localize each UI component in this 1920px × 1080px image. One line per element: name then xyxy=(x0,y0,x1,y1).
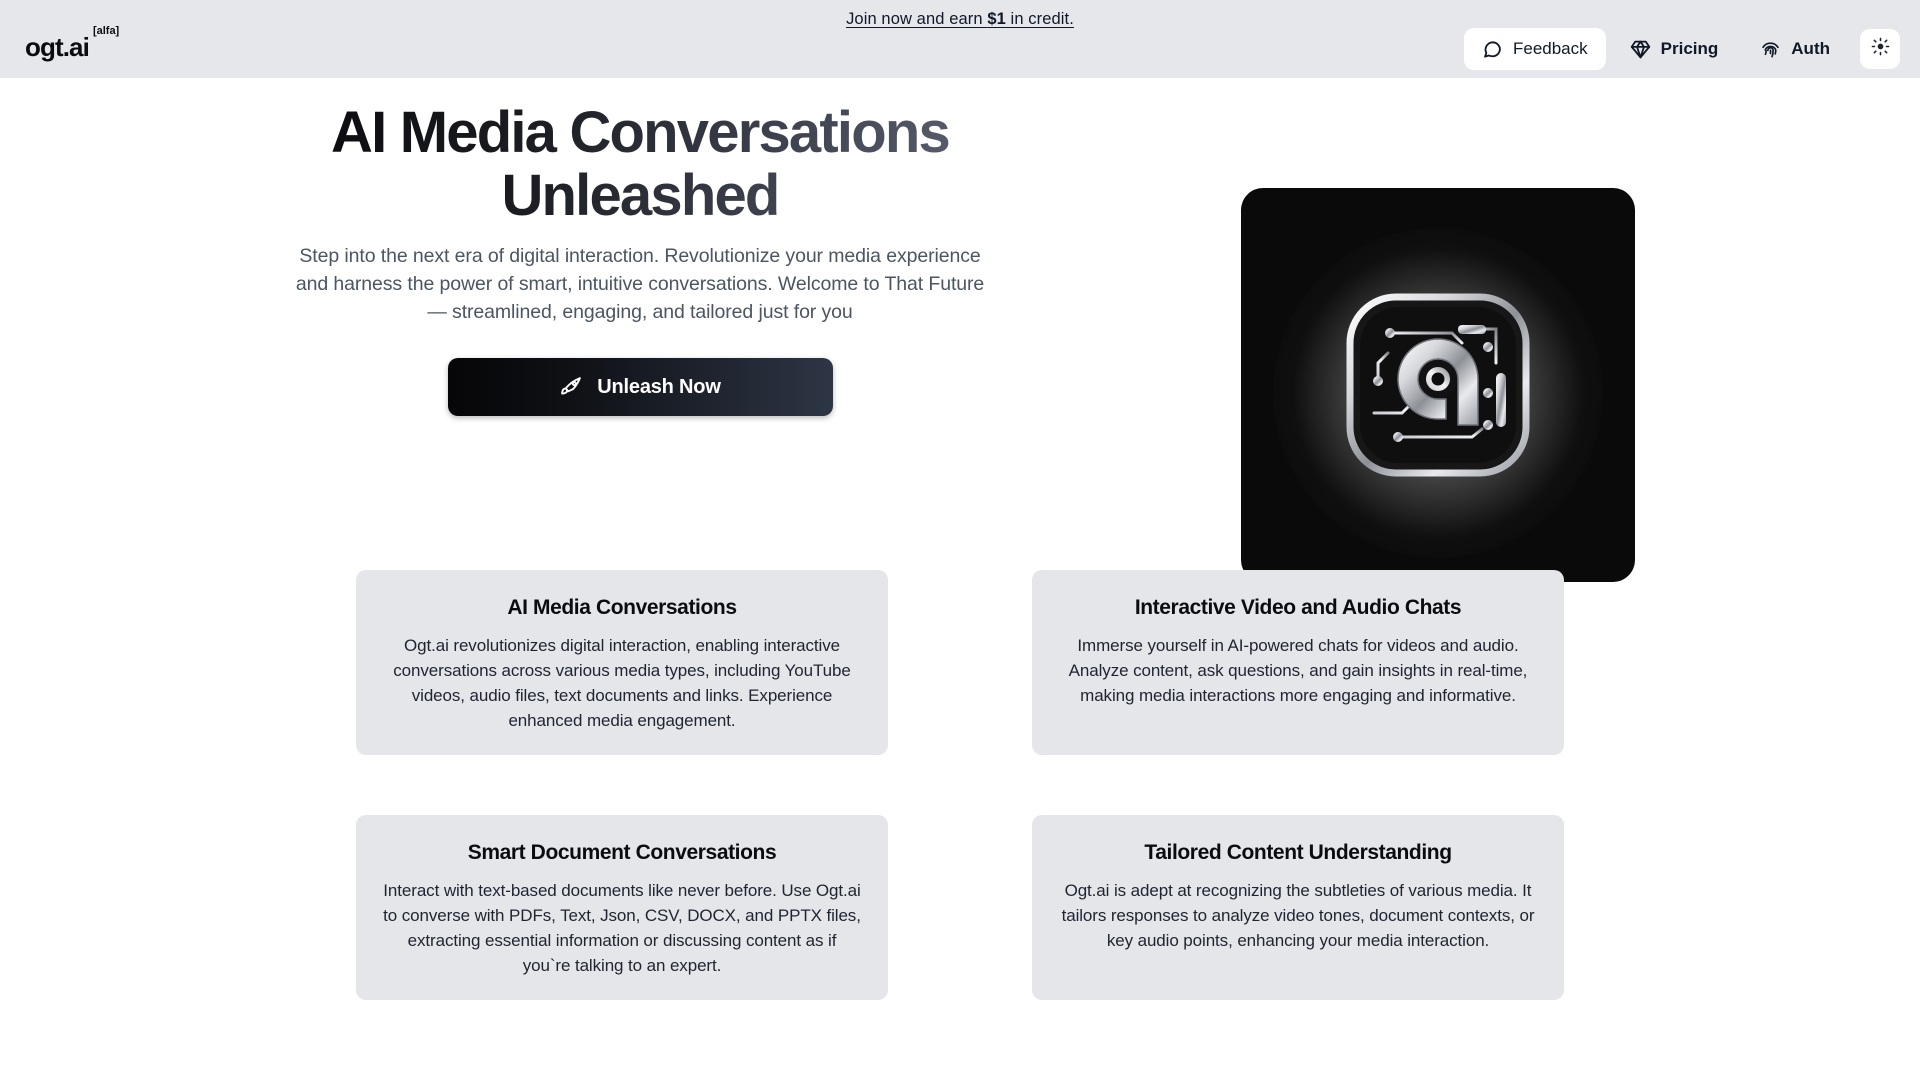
site-header: Join now and earn $1 in credit. ogt.ai [… xyxy=(0,0,1920,78)
rocket-icon xyxy=(559,375,583,399)
unleash-now-label: Unleash Now xyxy=(597,376,720,399)
brand-name: ogt.ai xyxy=(25,34,89,60)
promo-banner: Join now and earn $1 in credit. xyxy=(0,10,1920,29)
nav-item-label: Feedback xyxy=(1513,39,1588,59)
ogt-app-icon xyxy=(1338,285,1538,485)
promo-prefix: Join now and earn xyxy=(846,10,987,28)
nav-item-feedback[interactable]: Feedback xyxy=(1464,28,1606,70)
promo-banner-link[interactable]: Join now and earn $1 in credit. xyxy=(846,10,1074,28)
sun-icon xyxy=(1871,37,1890,61)
chat-bubble-icon xyxy=(1482,39,1503,60)
nav-item-label: Pricing xyxy=(1661,39,1719,59)
hero-section: AI Media Conversations Unleashed Step in… xyxy=(0,78,1920,548)
feature-card-title: Interactive Video and Audio Chats xyxy=(1058,596,1538,620)
feature-card-grid: AI Media Conversations Ogt.ai revolution… xyxy=(356,570,1564,1000)
nav-item-pricing[interactable]: Pricing xyxy=(1612,28,1737,70)
fingerprint-icon xyxy=(1760,39,1781,60)
feature-card-title: Tailored Content Understanding xyxy=(1058,841,1538,865)
cta-container: Unleash Now xyxy=(290,358,990,416)
hero-subtitle: Step into the next era of digital intera… xyxy=(290,243,990,326)
feature-card-body: Ogt.ai is adept at recognizing the subtl… xyxy=(1058,879,1538,954)
gem-icon xyxy=(1630,39,1651,60)
hero-artwork xyxy=(1241,188,1635,582)
feature-card-body: Immerse yourself in AI-powered chats for… xyxy=(1058,634,1538,709)
nav-item-auth[interactable]: Auth xyxy=(1742,28,1848,70)
promo-amount: $1 xyxy=(987,10,1006,28)
page-title: AI Media Conversations Unleashed xyxy=(290,102,990,227)
feature-card-title: AI Media Conversations xyxy=(382,596,862,620)
header-nav: Feedback Pricing xyxy=(1464,28,1900,70)
feature-card: Interactive Video and Audio Chats Immers… xyxy=(1032,570,1564,755)
feature-card-body: Interact with text-based documents like … xyxy=(382,879,862,979)
feature-card-body: Ogt.ai revolutionizes digital interactio… xyxy=(382,634,862,734)
unleash-now-button[interactable]: Unleash Now xyxy=(448,358,833,416)
brand-alfa-badge: [alfa] xyxy=(93,26,119,37)
nav-item-label: Auth xyxy=(1791,39,1830,59)
feature-card: Smart Document Conversations Interact wi… xyxy=(356,815,888,1000)
feature-card-title: Smart Document Conversations xyxy=(382,841,862,865)
brand-logo[interactable]: ogt.ai [alfa] xyxy=(25,34,119,60)
feature-card: AI Media Conversations Ogt.ai revolution… xyxy=(356,570,888,755)
hero-copy: AI Media Conversations Unleashed Step in… xyxy=(290,102,990,416)
theme-toggle-button[interactable] xyxy=(1860,29,1900,69)
feature-card: Tailored Content Understanding Ogt.ai is… xyxy=(1032,815,1564,1000)
promo-suffix: in credit. xyxy=(1006,10,1074,28)
